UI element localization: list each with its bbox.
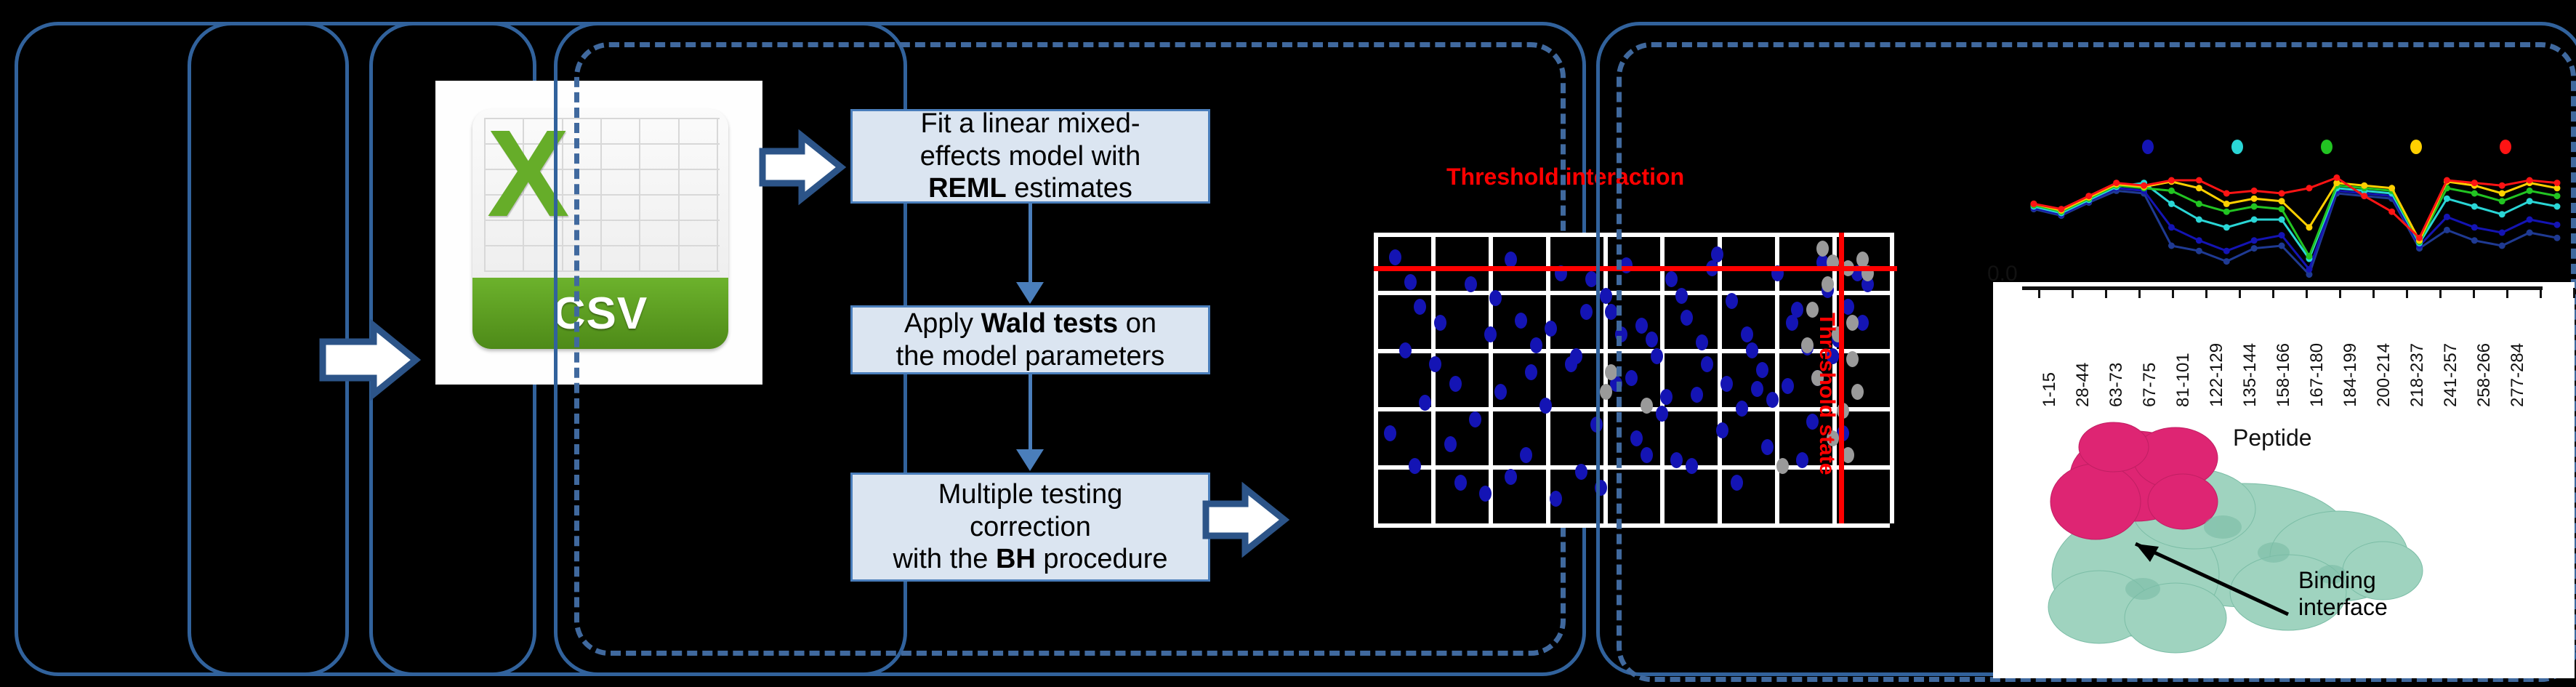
- peptide-data-point: [2113, 180, 2120, 186]
- scatter-point: [1414, 299, 1426, 315]
- peptide-axis-tick: [2172, 288, 2174, 298]
- peptide-tick-label: 135-144: [2240, 343, 2261, 407]
- peptide-data-point: [2279, 190, 2285, 197]
- peptide-data-point: [2554, 204, 2561, 210]
- peptide-data-point: [2306, 224, 2312, 230]
- peptide-axis-tick: [2473, 288, 2475, 298]
- peptide-line-series: [2034, 188, 2557, 270]
- peptide-data-point: [2416, 235, 2423, 241]
- peptide-data-point: [2085, 193, 2092, 199]
- peptide-data-point: [2251, 237, 2258, 244]
- peptide-axis-tick: [2306, 288, 2308, 298]
- scatter-point: [1409, 458, 1421, 474]
- peptide-data-point: [2196, 201, 2202, 207]
- peptide-axis-tick: [2239, 288, 2241, 298]
- peptide-data-point: [2168, 177, 2175, 184]
- grid-line-vertical: [1489, 233, 1493, 523]
- peptide-axis-tick: [2105, 288, 2107, 298]
- peptide-data-point: [2251, 217, 2258, 223]
- peptide-data-point: [2388, 209, 2395, 215]
- peptide-x-axis: [2022, 286, 2543, 290]
- peptide-data-point: [2251, 204, 2258, 210]
- peptide-axis-tick: [2406, 288, 2408, 298]
- scatter-point: [1384, 425, 1396, 441]
- peptide-data-point: [2499, 211, 2505, 217]
- scatter-point: [1505, 469, 1517, 485]
- scatter-point: [1404, 274, 1417, 290]
- peptide-data-point: [2196, 177, 2202, 184]
- peptide-data-point: [2554, 222, 2561, 228]
- peptide-data-point: [2306, 266, 2312, 273]
- peptide-data-point: [2444, 227, 2450, 233]
- binding-interface-line1: Binding: [2298, 567, 2388, 594]
- peptide-data-point: [2168, 224, 2175, 230]
- peptide-data-point: [2471, 237, 2478, 244]
- peptide-data-point: [2444, 196, 2450, 202]
- legend-dot: [2321, 140, 2333, 154]
- scatter-point: [1429, 356, 1441, 372]
- peptide-data-point: [2031, 201, 2037, 207]
- peptide-data-point: [2279, 232, 2285, 238]
- peptide-data-point: [2361, 182, 2367, 189]
- scatter-point: [1479, 486, 1492, 502]
- peptide-data-point: [2361, 193, 2367, 199]
- scatter-point: [1434, 315, 1446, 331]
- scatter-point: [1494, 384, 1507, 400]
- peptide-data-point: [2196, 185, 2202, 191]
- peptide-axis-tick: [2506, 288, 2508, 298]
- scatter-point: [1580, 304, 1593, 320]
- peptide-data-point: [2223, 201, 2230, 207]
- peptide-data-point: [2527, 177, 2533, 184]
- protein-surface-image: [2026, 422, 2434, 662]
- peptide-data-point: [2223, 209, 2230, 215]
- grid-line-vertical: [1431, 233, 1436, 523]
- peptide-data-point: [2306, 185, 2312, 191]
- peptide-data-point: [2168, 188, 2175, 194]
- scatter-point: [1449, 376, 1462, 392]
- peptide-axis-tick: [2339, 288, 2341, 298]
- peptide-data-point: [2251, 245, 2258, 252]
- peptide-data-point: [2279, 217, 2285, 223]
- peptide-data-point: [2223, 248, 2230, 254]
- peptide-data-point: [2388, 185, 2395, 191]
- peptide-tick-label: 67-75: [2140, 363, 2160, 407]
- peptide-data-point: [2444, 214, 2450, 220]
- peptide-axis-tick: [2072, 288, 2074, 298]
- peptide-data-point: [2499, 182, 2505, 189]
- peptide-data-point: [2471, 190, 2478, 197]
- legend-dot: [2410, 140, 2422, 154]
- peptide-axis-tick: [2138, 288, 2141, 298]
- peptide-tick-label: 158-166: [2274, 343, 2294, 407]
- peptide-data-point: [2333, 174, 2340, 181]
- scatter-point: [1489, 290, 1502, 306]
- scatter-point: [1454, 475, 1467, 491]
- scatter-point: [1465, 276, 1477, 292]
- peptide-data-point: [2251, 188, 2258, 194]
- peptide-y-tick-zero: 0.0: [1987, 262, 2018, 286]
- peptide-tick-label: 122-129: [2207, 343, 2227, 407]
- scatter-point: [1469, 411, 1481, 427]
- peptide-tick-label: 1-15: [2040, 372, 2060, 407]
- peptide-tick-label: 258-266: [2474, 343, 2495, 407]
- peptide-axis-tick: [2540, 288, 2542, 298]
- peptide-data-point: [2554, 193, 2561, 199]
- peptide-data-point: [2141, 182, 2147, 189]
- scatter-point: [1520, 447, 1532, 463]
- peptide-tick-labels: 1-1528-4463-7367-7581-101122-129135-1441…: [2028, 298, 2537, 418]
- peptide-data-point: [2196, 237, 2202, 244]
- input-arrow: [320, 320, 422, 400]
- peptide-tick-label: 277-284: [2508, 343, 2528, 407]
- peptide-tick-label: 218-237: [2407, 343, 2428, 407]
- peptide-tick-label: 184-199: [2340, 343, 2361, 407]
- scatter-point: [1545, 321, 1557, 337]
- peptide-axis-tick: [2439, 288, 2442, 298]
- peptide-data-point: [2554, 180, 2561, 186]
- peptide-data-point: [2223, 258, 2230, 265]
- legend-dot: [2500, 140, 2511, 154]
- peptide-data-point: [2279, 243, 2285, 249]
- peptide-tick-label: 63-73: [2106, 363, 2127, 407]
- peptide-axis-tick: [2272, 288, 2274, 298]
- peptide-tick-label: 200-214: [2374, 343, 2394, 407]
- peptide-data-point: [2527, 217, 2533, 223]
- peptide-data-point: [2527, 230, 2533, 236]
- peptide-tick-label: 81-101: [2173, 353, 2194, 407]
- peptide-data-point: [2527, 198, 2533, 204]
- peptide-tick-label: 241-257: [2441, 343, 2461, 407]
- peptide-uptake-lines: [2021, 138, 2573, 291]
- peptide-tick-label: 28-44: [2073, 363, 2093, 407]
- peptide-data-point: [2554, 235, 2561, 241]
- peptide-data-point: [2196, 248, 2202, 254]
- peptide-axis-tick: [2205, 288, 2207, 298]
- binding-interface-line2: interface: [2298, 594, 2388, 621]
- scatter-point: [1530, 337, 1542, 353]
- peptide-data-point: [2168, 201, 2175, 207]
- peptide-data-point: [2306, 253, 2312, 260]
- peptide-data-point: [2251, 196, 2258, 202]
- peptide-data-point: [2499, 230, 2505, 236]
- scatter-point: [1444, 436, 1457, 452]
- peptide-data-point: [2279, 198, 2285, 204]
- scatter-point: [1525, 364, 1537, 380]
- scatter-point: [1515, 313, 1527, 329]
- grid-line-vertical: [1546, 233, 1550, 523]
- peptide-data-point: [2471, 180, 2478, 186]
- grid-line-vertical: [1374, 233, 1378, 523]
- peptide-data-point: [2471, 224, 2478, 230]
- peptide-data-point: [2499, 198, 2505, 204]
- peptide-data-point: [2499, 190, 2505, 197]
- peptide-data-point: [2223, 224, 2230, 230]
- peptide-axis-tick: [2372, 288, 2375, 298]
- peptide-data-point: [2527, 188, 2533, 194]
- peptide-data-point: [2168, 243, 2175, 249]
- peptide-data-point: [2471, 204, 2478, 210]
- peptide-data-point: [2223, 190, 2230, 197]
- peptide-data-point: [2196, 217, 2202, 223]
- peptide-data-point: [2058, 206, 2064, 212]
- peptide-data-point: [2279, 206, 2285, 212]
- peptide-data-point: [2444, 177, 2450, 184]
- scatter-point: [1389, 249, 1401, 265]
- scatter-point: [1575, 464, 1587, 480]
- scatter-point: [1399, 342, 1412, 358]
- legend-dot: [2231, 140, 2243, 154]
- peptide-axis-tick: [2573, 288, 2575, 298]
- peptide-axis-tick: [2038, 288, 2040, 298]
- peptide-data-point: [2499, 243, 2505, 249]
- peptide-tick-label: 167-180: [2307, 343, 2327, 407]
- binding-interface-annotation: Binding interface: [2298, 567, 2388, 621]
- legend-dot: [2142, 140, 2154, 154]
- peptide-line-series: [2034, 185, 2557, 256]
- scatter-point: [1570, 348, 1582, 364]
- scatter-point: [1484, 326, 1497, 342]
- peptide-axis-card: 0.0 1-1528-4463-7367-7581-101122-129135-…: [1993, 282, 2575, 678]
- scatter-point: [1550, 491, 1562, 507]
